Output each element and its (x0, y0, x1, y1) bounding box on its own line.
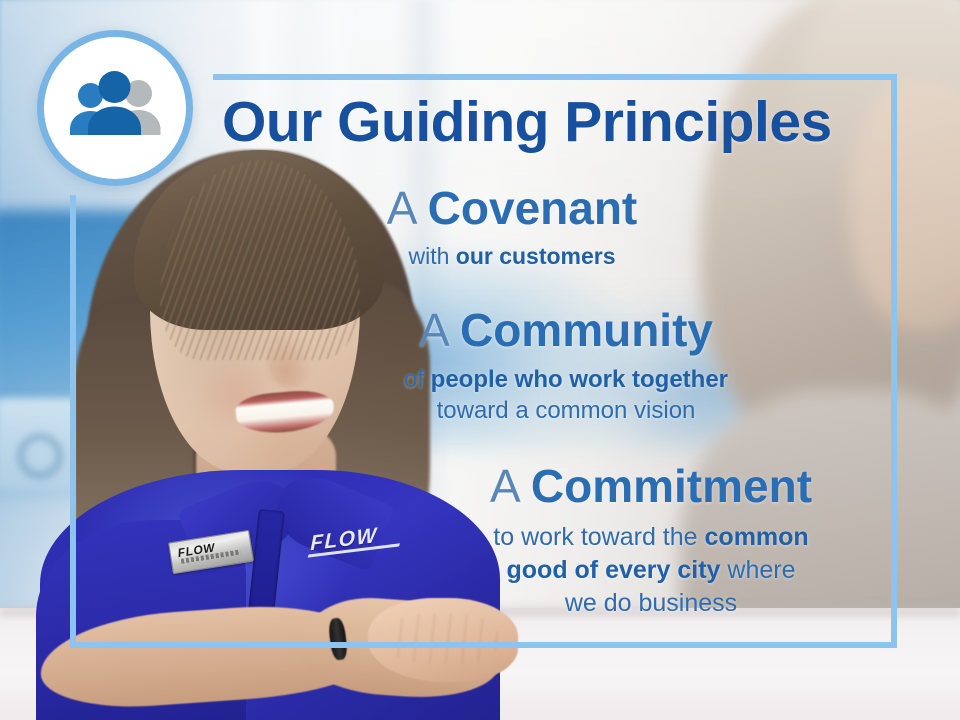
principle-covenant-heading: A Covenant (352, 184, 672, 233)
guiding-principles-banner: FLOW FLOW (0, 0, 960, 720)
principle-commitment-heading: A Commitment (452, 462, 850, 511)
principle-commitment: A Commitment to work toward the commongo… (452, 462, 850, 621)
people-group-icon (63, 71, 167, 145)
principle-commitment-word: Commitment (531, 460, 812, 512)
principle-community: A Community of people who work togethert… (396, 306, 736, 427)
people-group-icon-badge (37, 30, 193, 186)
principle-commitment-article: A (490, 460, 518, 512)
principle-covenant-article: A (387, 182, 415, 234)
principle-community-article: A (419, 304, 447, 356)
principle-community-heading: A Community (396, 306, 736, 355)
principle-community-subtext: of people who work togethertoward a comm… (396, 364, 736, 427)
principle-covenant: A Covenant with our customers (352, 184, 672, 272)
principle-community-word: Community (460, 304, 713, 356)
bg-person-face (850, 80, 960, 330)
principle-covenant-subtext: with our customers (352, 242, 672, 272)
principle-commitment-subtext: to work toward the commongood of every c… (452, 521, 850, 621)
principle-covenant-word: Covenant (428, 182, 638, 234)
page-title: Our Guiding Principles (222, 94, 832, 151)
